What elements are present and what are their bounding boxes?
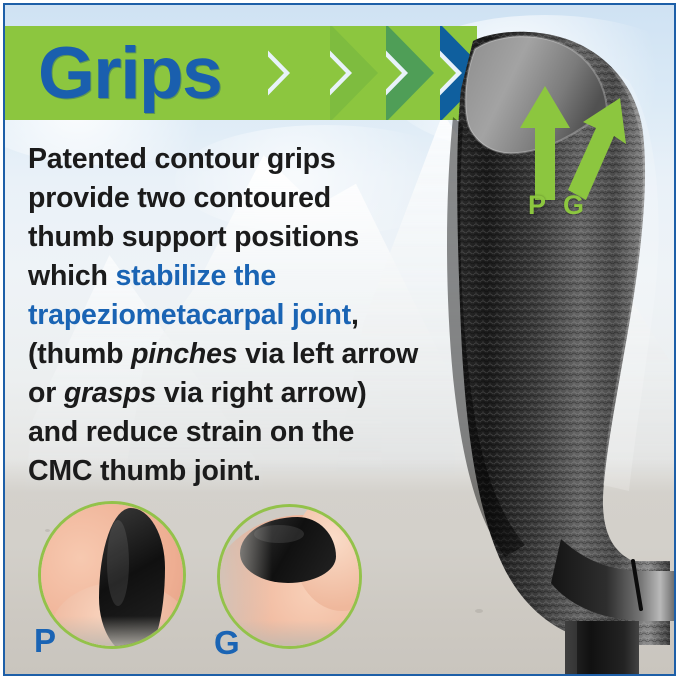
description-segment: CMC thumb joint. (28, 455, 261, 487)
grip-arrow-label-p: P (528, 192, 546, 219)
description-line: and reduce strain on the (28, 413, 458, 452)
description-segment: grasps (64, 377, 156, 409)
description-line: which stabilize the (28, 257, 458, 296)
description-segment: thumb support positions (28, 221, 359, 253)
description-segment: stabilize the (115, 260, 276, 292)
description-segment: or (28, 377, 64, 409)
description-segment: (thumb (28, 338, 131, 370)
grip-arrow-label-g: G (563, 192, 584, 219)
description-line: Patented contour grips (28, 140, 458, 179)
product-feature-card: P G Grips Patented contour gripsprovide … (0, 0, 679, 679)
description-segment: pinches (131, 338, 237, 370)
description-line: or grasps via right arrow) (28, 374, 458, 413)
description-segment: provide two contoured (28, 182, 331, 214)
description-segment: trapeziometacarpal joint (28, 299, 351, 331)
chevron-4-icon (440, 26, 524, 120)
grasp-arrow-icon (566, 96, 630, 202)
inset-label-g: G (214, 626, 240, 659)
inset-label-p: P (34, 624, 56, 657)
description-line: (thumb pinches via left arrow (28, 335, 458, 374)
description-line: trapeziometacarpal joint, (28, 296, 458, 335)
inset-photo-pinch (38, 501, 186, 649)
description-line: CMC thumb joint. (28, 452, 458, 491)
description-segment: via right arrow) (156, 377, 366, 409)
description-line: thumb support positions (28, 218, 458, 257)
description-segment: and reduce strain on the (28, 416, 354, 448)
page-title: Grips (38, 28, 221, 120)
description-segment: via left arrow (237, 338, 418, 370)
description-segment: , (351, 299, 359, 331)
description-line: provide two contoured (28, 179, 458, 218)
description-segment: which (28, 260, 115, 292)
description-segment: Patented contour grips (28, 143, 336, 175)
feature-description: Patented contour gripsprovide two contou… (28, 140, 458, 491)
